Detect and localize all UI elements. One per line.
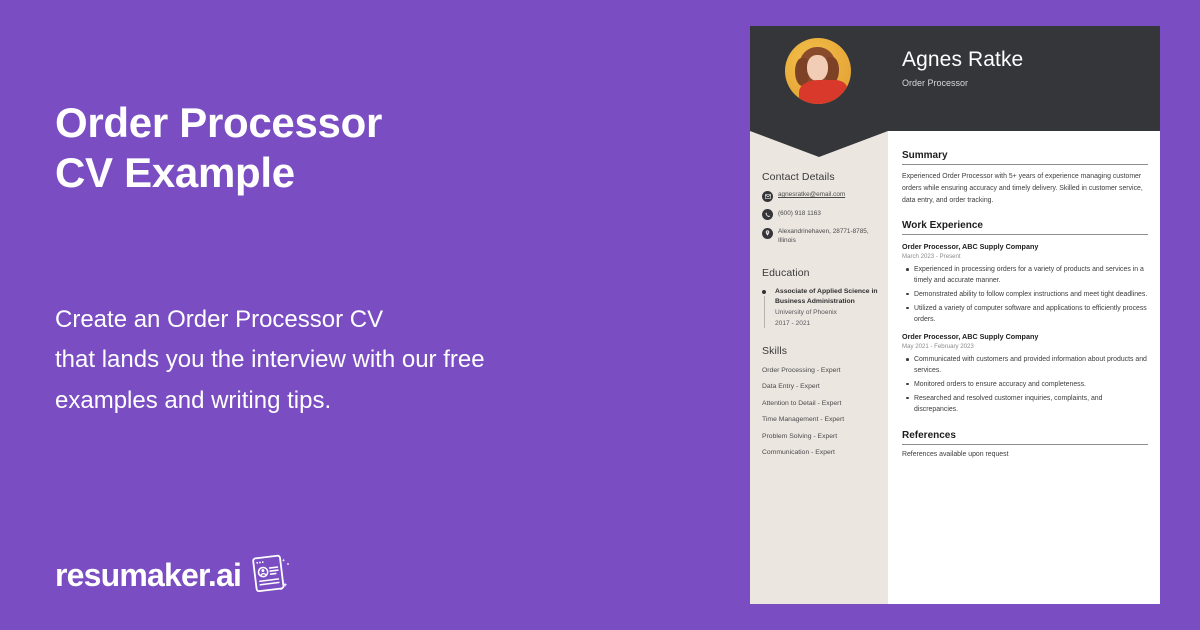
references-heading: References	[902, 430, 1148, 445]
skill-item: Data Entry - Expert	[762, 383, 880, 390]
summary-heading: Summary	[902, 150, 1148, 165]
contact-item-address: Alexandrinehaven, 28771-8785, Illinois	[762, 227, 880, 246]
cv-candidate-role: Order Processor	[902, 78, 968, 88]
skill-item: Order Processing - Expert	[762, 367, 880, 374]
cv-candidate-name: Agnes Ratke	[902, 48, 1023, 72]
cv-preview-card[interactable]: Agnes Ratke Order Processor Contact Deta…	[750, 26, 1160, 604]
promo-panel: Order Processor CV Example Create an Ord…	[0, 0, 750, 630]
skills-section: Skills Order Processing - Expert Data En…	[762, 345, 880, 456]
envelope-icon	[762, 191, 773, 202]
contact-details-heading: Contact Details	[762, 171, 880, 183]
skill-item: Communication - Expert	[762, 449, 880, 456]
education-heading: Education	[762, 267, 880, 279]
contact-item-email[interactable]: agnesratke@email.com	[762, 190, 880, 202]
promo-subtitle: Create an Order Processor CV that lands …	[55, 300, 485, 421]
contact-phone-text: (600) 918 1163	[778, 209, 821, 218]
timeline-line	[764, 296, 765, 328]
job-title: Order Processor, ABC Supply Company	[902, 242, 1148, 251]
work-experience-job: Order Processor, ABC Supply Company May …	[902, 332, 1148, 415]
resumaker-logo[interactable]: resumaker.ai	[55, 552, 291, 598]
work-experience-section: Work Experience Order Processor, ABC Sup…	[902, 220, 1148, 417]
job-bullet: Researched and resolved customer inquiri…	[902, 393, 1148, 415]
skills-heading: Skills	[762, 345, 880, 357]
summary-section: Summary Experienced Order Processor with…	[902, 150, 1148, 207]
job-title: Order Processor, ABC Supply Company	[902, 332, 1148, 341]
education-section: Education Associate of Applied Science i…	[762, 267, 880, 329]
contact-address-text: Alexandrinehaven, 28771-8785, Illinois	[778, 227, 880, 246]
contact-details-section: Contact Details agnesratke@email.com (60…	[762, 171, 880, 246]
work-experience-heading: Work Experience	[902, 220, 1148, 235]
work-experience-job: Order Processor, ABC Supply Company Marc…	[902, 242, 1148, 325]
skill-item: Problem Solving - Expert	[762, 433, 880, 440]
page-title: Order Processor CV Example	[55, 98, 382, 199]
logo-wordmark: resumaker.ai	[55, 557, 241, 594]
job-bullet: Experienced in processing orders for a v…	[902, 264, 1148, 286]
job-date: March 2023 - Present	[902, 253, 1148, 260]
job-bullet: Communicated with customers and provided…	[902, 354, 1148, 376]
education-degree: Associate of Applied Science in Business…	[775, 287, 880, 307]
job-bullet: Utilized a variety of computer software …	[902, 303, 1148, 325]
summary-text: Experienced Order Processor with 5+ year…	[902, 171, 1148, 207]
skill-item: Attention to Detail - Expert	[762, 400, 880, 407]
job-bullet: Monitored orders to ensure accuracy and …	[902, 379, 1148, 390]
education-item: Associate of Applied Science in Business…	[762, 287, 880, 329]
references-section: References References available upon req…	[902, 430, 1148, 458]
timeline-dot-icon	[762, 290, 766, 294]
location-pin-icon	[762, 228, 773, 239]
education-school: University of Phoenix	[775, 308, 880, 319]
job-bullet: Demonstrated ability to follow complex i…	[902, 289, 1148, 300]
education-years: 2017 - 2021	[775, 319, 880, 330]
avatar	[785, 38, 851, 104]
resume-document-icon	[245, 552, 291, 598]
contact-item-phone: (600) 918 1163	[762, 209, 880, 221]
references-text: References available upon request	[902, 451, 1148, 458]
skill-item: Time Management - Expert	[762, 416, 880, 423]
phone-icon	[762, 209, 773, 220]
job-date: May 2021 - February 2023	[902, 343, 1148, 350]
contact-email-text[interactable]: agnesratke@email.com	[778, 190, 845, 199]
